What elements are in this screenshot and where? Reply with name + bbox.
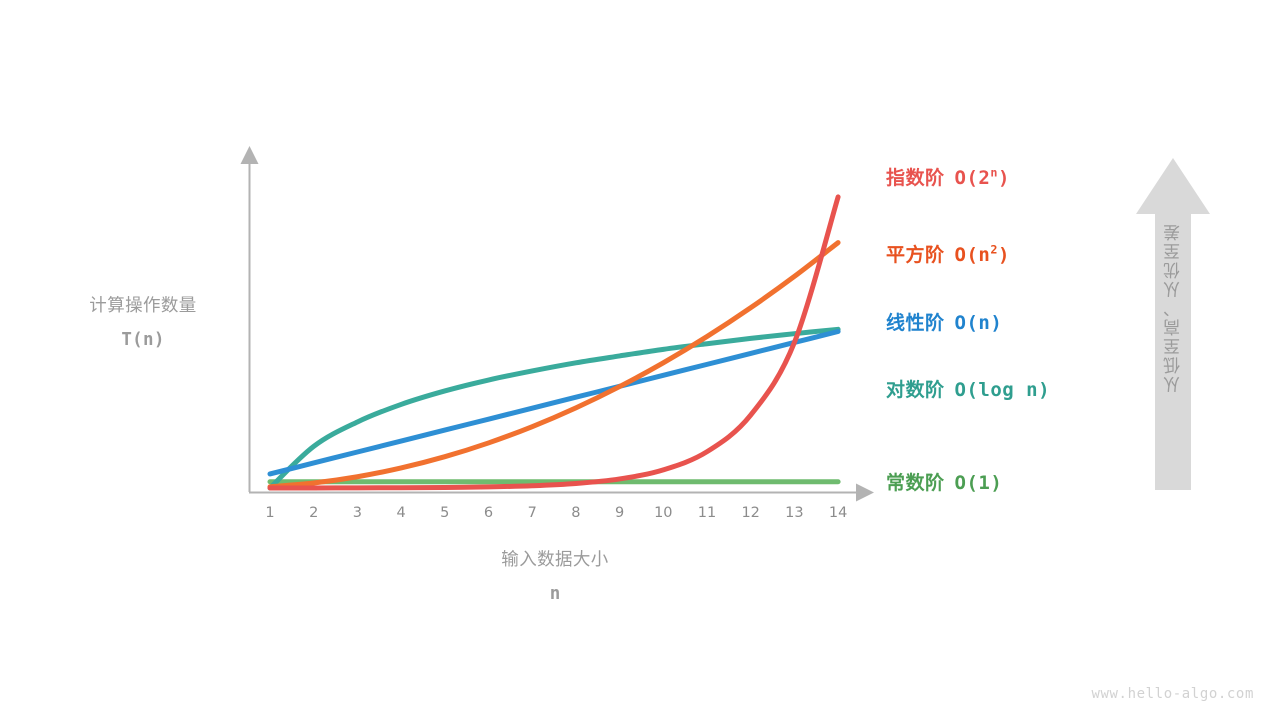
legend-notation-constant: O(1) — [955, 472, 1003, 494]
legend-item-quadratic[interactable]: 平方阶O(n2) — [886, 240, 1010, 267]
curve-exponential — [270, 197, 838, 488]
quality-arrow-icon — [1136, 158, 1210, 490]
x-tick-8: 8 — [560, 505, 592, 521]
legend-notation-exponential: O(2n) — [955, 167, 1010, 189]
watermark: www.hello-algo.com — [1091, 686, 1254, 702]
x-tick-5: 5 — [429, 505, 461, 521]
y-axis-label: 计算操作数量 T(n) — [48, 294, 238, 353]
legend-item-linear[interactable]: 线性阶O(n) — [886, 308, 1002, 335]
x-tick-9: 9 — [604, 505, 636, 521]
x-tick-11: 11 — [691, 505, 723, 521]
legend-label-constant: 常数阶 — [886, 472, 945, 494]
legend-label-exponential: 指数阶 — [886, 167, 945, 189]
plot-area — [0, 0, 1280, 720]
x-tick-3: 3 — [341, 505, 373, 521]
x-axis-label-symbol: n — [400, 582, 710, 607]
x-tick-12: 12 — [735, 505, 767, 521]
legend-item-constant[interactable]: 常数阶O(1) — [886, 468, 1002, 495]
axis-lines — [249, 162, 858, 493]
x-axis-label-main: 输入数据大小 — [400, 548, 710, 573]
legend-label-quadratic: 平方阶 — [886, 244, 945, 266]
legend-notation-quadratic: O(n2) — [955, 244, 1010, 266]
x-tick-14: 14 — [822, 505, 854, 521]
chart-figure: 计算操作数量 T(n) 输入数据大小 n 1234567891011121314… — [0, 0, 1280, 720]
x-tick-6: 6 — [473, 505, 505, 521]
legend-item-logarithmic[interactable]: 对数阶O(log n) — [886, 375, 1050, 402]
x-tick-4: 4 — [385, 505, 417, 521]
legend-label-linear: 线性阶 — [886, 312, 945, 334]
legend-notation-linear: O(n) — [955, 312, 1003, 334]
x-tick-1: 1 — [254, 505, 286, 521]
x-tick-13: 13 — [778, 505, 810, 521]
y-axis-label-main: 计算操作数量 — [48, 294, 238, 319]
x-tick-2: 2 — [298, 505, 330, 521]
legend-item-exponential[interactable]: 指数阶O(2n) — [886, 163, 1010, 190]
x-tick-10: 10 — [647, 505, 679, 521]
x-tick-7: 7 — [516, 505, 548, 521]
legend-label-logarithmic: 对数阶 — [886, 379, 945, 401]
series-curves — [270, 197, 838, 488]
y-axis-label-symbol: T(n) — [48, 328, 238, 353]
x-axis-label: 输入数据大小 n — [400, 548, 710, 607]
legend-notation-logarithmic: O(log n) — [955, 379, 1051, 401]
curve-linear — [270, 332, 838, 474]
